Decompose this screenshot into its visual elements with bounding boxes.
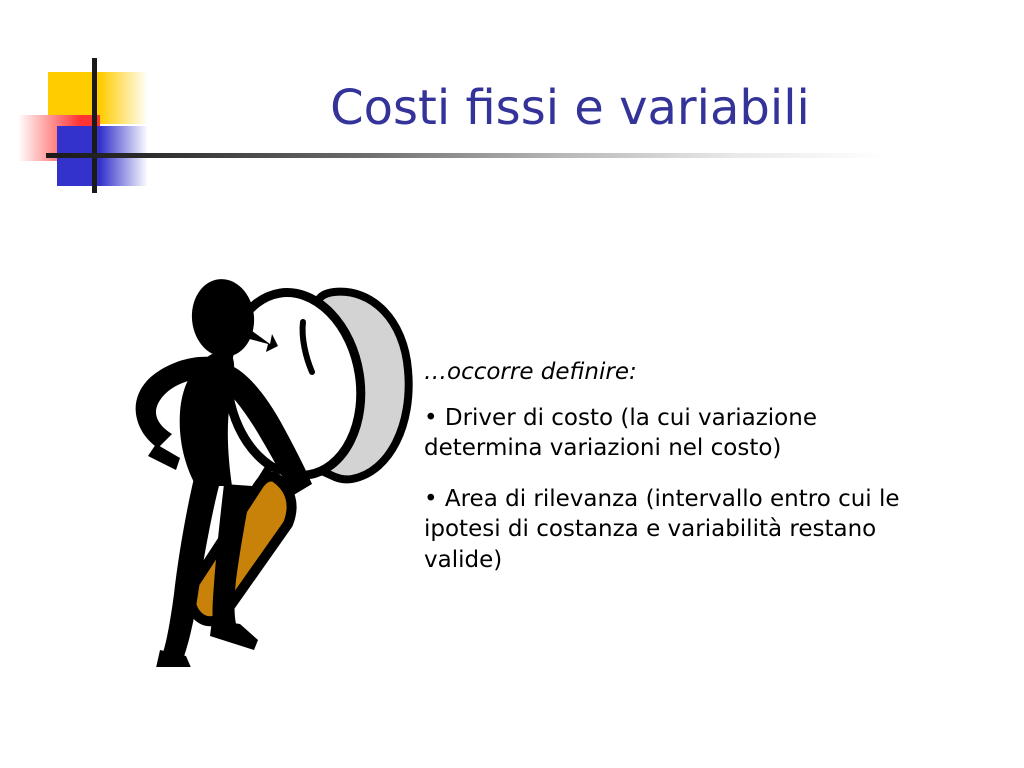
title-underline-divider — [46, 153, 886, 158]
logo-yellow-gradient — [100, 72, 148, 124]
bullet-item-driver-di-costo: • Driver di costo (la cui variazione det… — [424, 403, 932, 464]
body-content: …occorre definire: • Driver di costo (la… — [424, 358, 932, 576]
bullet-item-area-di-rilevanza: • Area di rilevanza (intervallo entro cu… — [424, 484, 932, 576]
figure-left-hand — [148, 444, 180, 470]
slide-canvas: Costi fissi e variabili — [0, 0, 1024, 768]
person-with-magnifying-glass-illustration — [120, 272, 420, 667]
corner-blocks-logo — [10, 50, 160, 200]
logo-vertical-line-icon — [92, 58, 97, 193]
figure-front-foot — [210, 620, 258, 650]
page-title: Costi fissi e variabili — [160, 84, 980, 132]
lead-text: …occorre definire: — [424, 358, 932, 387]
magnifier-figure-svg — [120, 272, 420, 667]
